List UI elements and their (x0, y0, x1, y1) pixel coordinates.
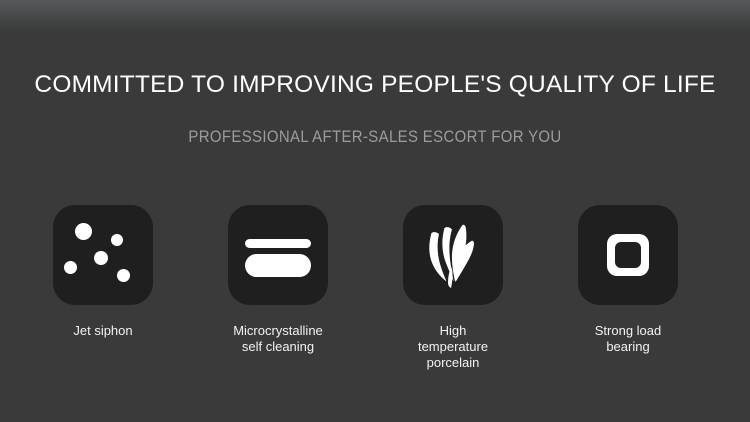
bubble-shape (64, 261, 77, 274)
feature-caption: High temperature porcelain (403, 323, 503, 371)
bar-thin-shape (245, 239, 311, 248)
bubble-shape (94, 251, 108, 265)
frame-inner-cutout (615, 242, 641, 268)
feature-icon-tile (53, 205, 153, 305)
feature-icon-tile (578, 205, 678, 305)
bar-thick-shape (245, 254, 311, 277)
feature-item-microcrystalline[interactable]: Microcrystalline self cleaning (228, 205, 328, 355)
promo-banner: COMMITTED TO IMPROVING PEOPLE'S QUALITY … (0, 0, 750, 422)
feature-icon-tile (228, 205, 328, 305)
feature-item-high-temperature[interactable]: High temperature porcelain (403, 205, 503, 371)
feature-list: Jet siphon Microcrystalline self cleanin… (53, 205, 713, 370)
feature-caption: Jet siphon (53, 323, 153, 339)
feature-item-jet-siphon[interactable]: Jet siphon (53, 205, 153, 339)
flame-leaves-icon (427, 223, 479, 289)
top-gradient-sheen (0, 0, 750, 34)
feature-icon-tile (403, 205, 503, 305)
bubble-shape (75, 223, 92, 240)
rounded-square-frame-icon (607, 234, 649, 276)
bubble-shape (117, 269, 130, 282)
bubble-shape (111, 234, 123, 246)
feature-caption: Strong load bearing (578, 323, 678, 355)
feature-item-strong-load[interactable]: Strong load bearing (578, 205, 678, 355)
page-subtitle: PROFESSIONAL AFTER-SALES ESCORT FOR YOU (45, 127, 705, 147)
feature-caption: Microcrystalline self cleaning (228, 323, 328, 355)
page-title: COMMITTED TO IMPROVING PEOPLE'S QUALITY … (0, 71, 750, 99)
